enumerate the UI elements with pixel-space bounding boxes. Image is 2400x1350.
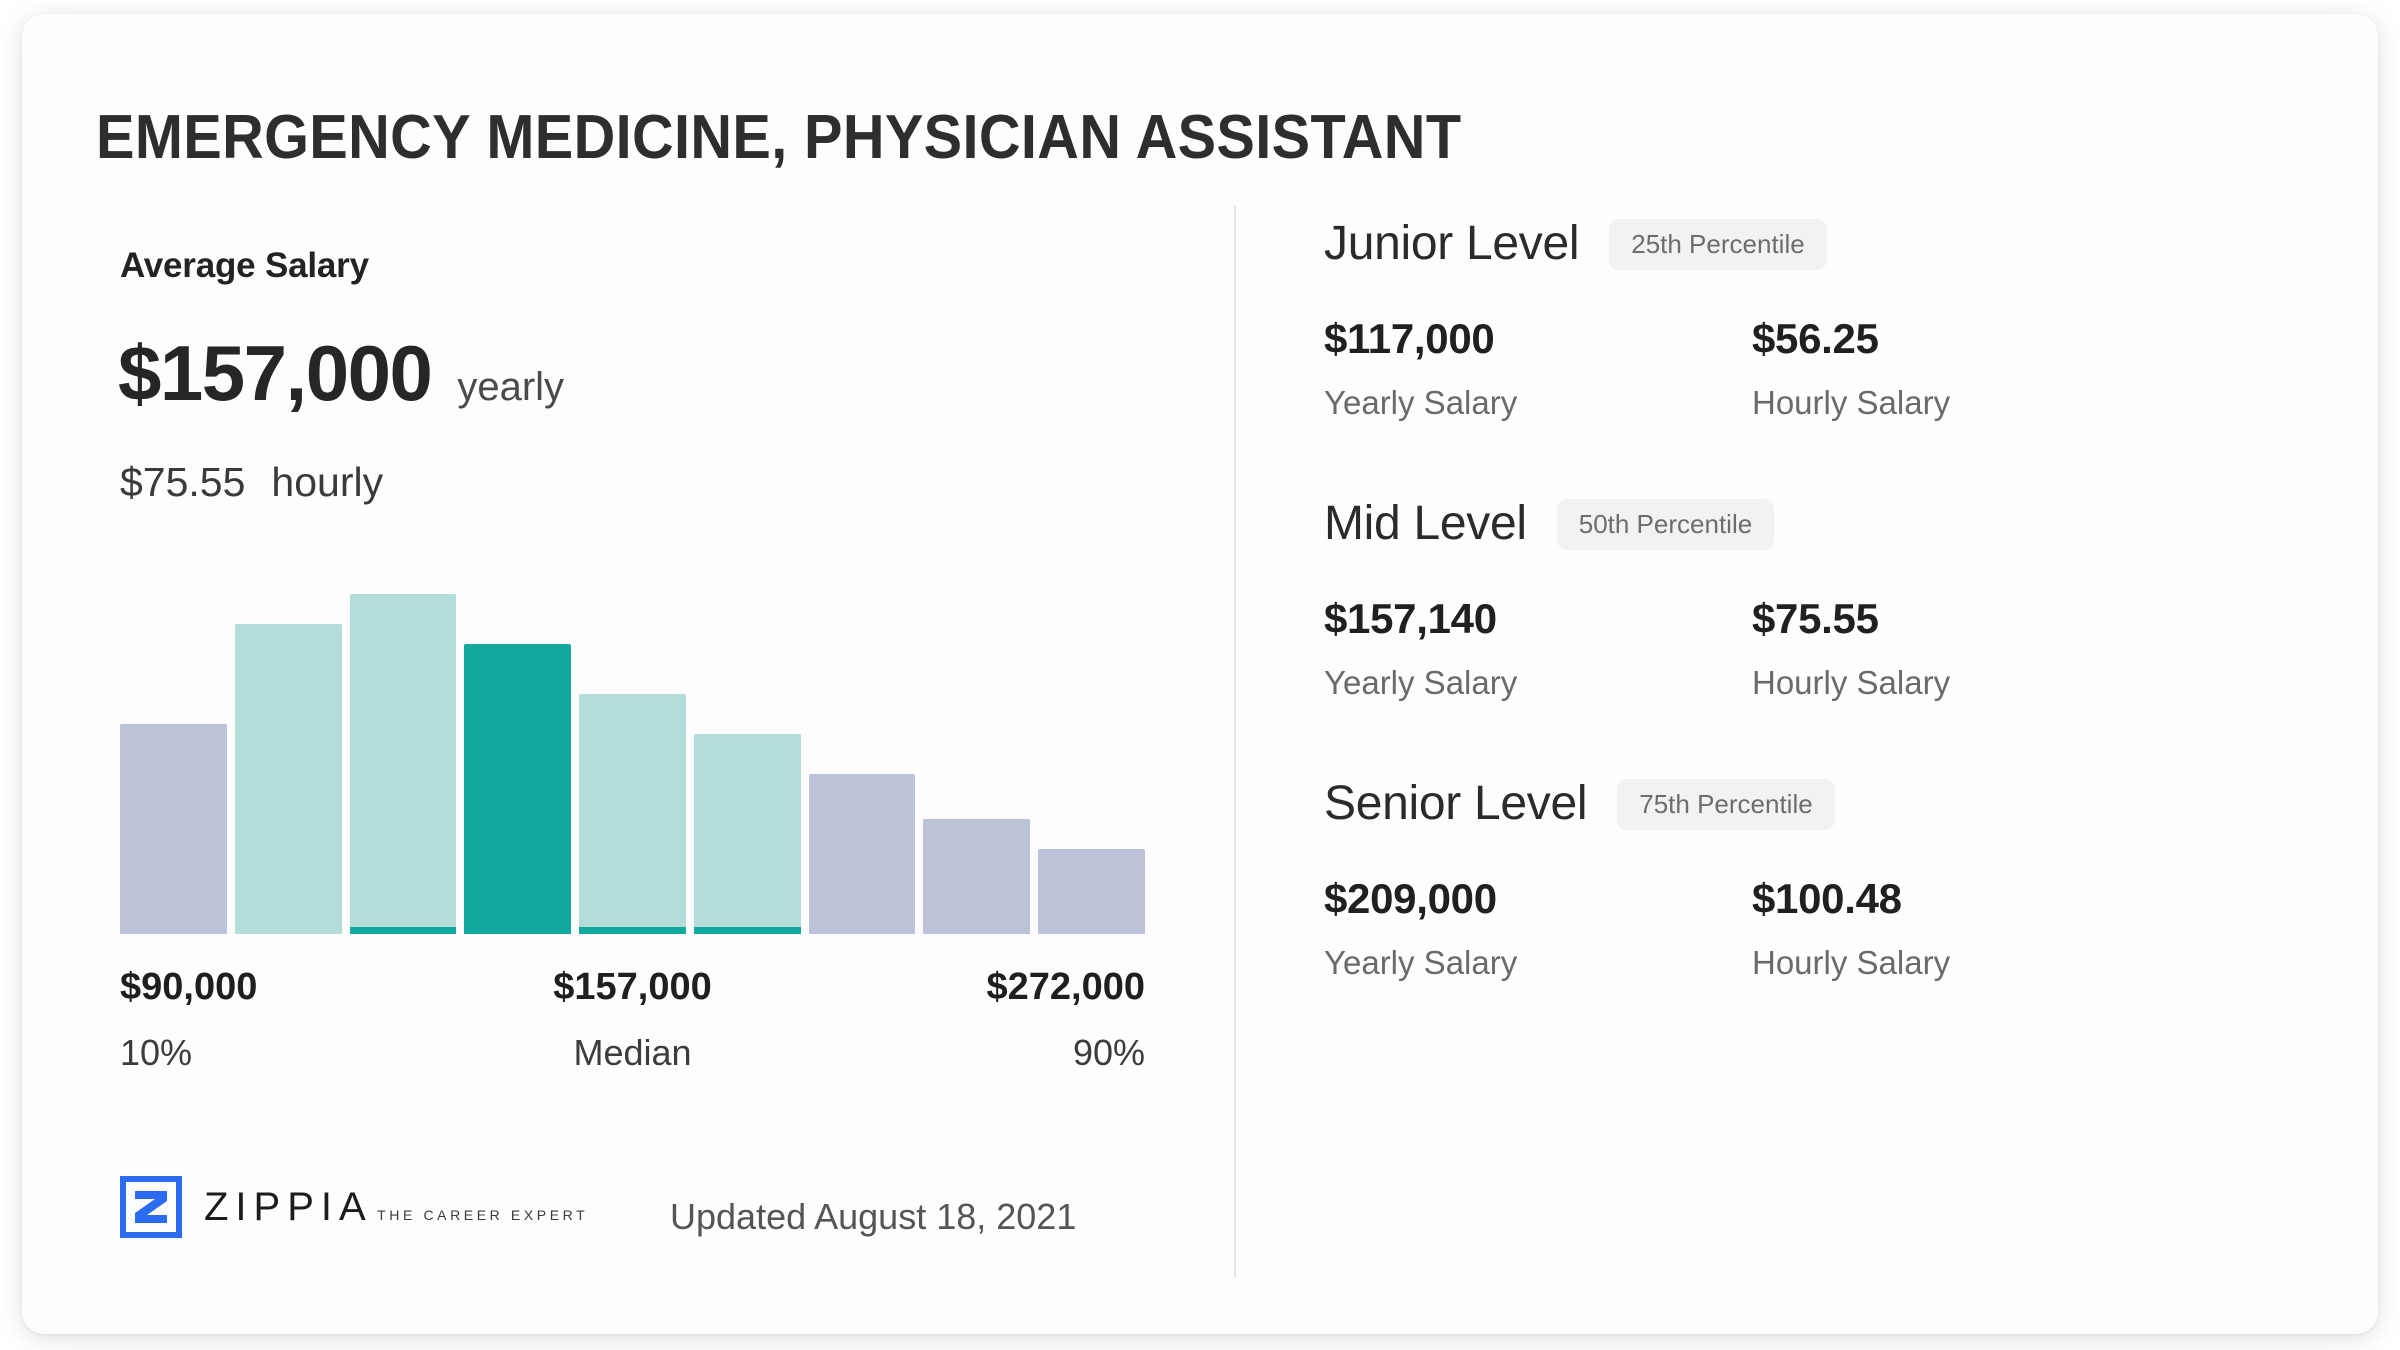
zippia-tagline: THE CAREER EXPERT: [377, 1207, 588, 1223]
average-salary-hourly-row: $75.55 hourly: [120, 462, 383, 503]
chart-axis-amounts: $90,000 $157,000 $272,000: [120, 966, 1145, 1010]
chart-bar: [350, 594, 457, 934]
axis-high-amount: $272,000: [987, 966, 1146, 1009]
experience-level-block: Junior Level25th Percentile$117,000Yearl…: [1324, 214, 2364, 436]
yearly-salary-label: Yearly Salary: [1324, 946, 1517, 979]
zippia-logo[interactable]: ZIPPIA THE CAREER EXPERT: [120, 1176, 588, 1238]
hourly-salary-stat: $100.48Hourly Salary: [1752, 878, 1950, 979]
chart-bar: [464, 644, 571, 934]
yearly-salary-value: $157,140: [1324, 598, 1517, 640]
level-stats: $117,000Yearly Salary$56.25Hourly Salary: [1324, 318, 2364, 436]
yearly-salary-value: $209,000: [1324, 878, 1517, 920]
yearly-salary-label: Yearly Salary: [1324, 386, 1517, 419]
level-header: Senior Level75th Percentile: [1324, 774, 2364, 834]
level-stats: $157,140Yearly Salary$75.55Hourly Salary: [1324, 598, 2364, 716]
average-hourly-amount: $75.55: [120, 462, 245, 503]
axis-mid-amount: $157,000: [553, 966, 712, 1009]
experience-level-block: Senior Level75th Percentile$209,000Yearl…: [1324, 774, 2364, 996]
chart-bar: [1038, 849, 1145, 934]
hourly-salary-stat: $56.25Hourly Salary: [1752, 318, 1950, 419]
percentile-badge: 75th Percentile: [1617, 779, 1834, 830]
average-salary-unit: yearly: [457, 367, 564, 407]
chart-bar: [923, 819, 1030, 934]
experience-level-block: Mid Level50th Percentile$157,140Yearly S…: [1324, 494, 2364, 716]
level-name: Mid Level: [1324, 500, 1527, 548]
average-salary-amount: $157,000: [118, 334, 431, 412]
chart-bar: [235, 624, 342, 934]
zippia-wordmark: ZIPPIA THE CAREER EXPERT: [204, 1187, 588, 1227]
level-name: Senior Level: [1324, 780, 1587, 828]
level-stats: $209,000Yearly Salary$100.48Hourly Salar…: [1324, 878, 2364, 996]
level-header: Junior Level25th Percentile: [1324, 214, 2364, 274]
hourly-salary-value: $56.25: [1752, 318, 1950, 360]
chart-bar: [120, 724, 227, 934]
yearly-salary-value: $117,000: [1324, 318, 1517, 360]
axis-mid-sublabel: Median: [573, 1032, 691, 1074]
zippia-z-icon: [120, 1176, 182, 1238]
chart-bar: [579, 694, 686, 934]
percentile-badge: 50th Percentile: [1557, 499, 1774, 550]
chart-bar: [694, 734, 801, 934]
hourly-salary-value: $100.48: [1752, 878, 1950, 920]
level-name: Junior Level: [1324, 220, 1579, 268]
hourly-salary-label: Hourly Salary: [1752, 946, 1950, 979]
yearly-salary-stat: $209,000Yearly Salary: [1324, 878, 1517, 979]
yearly-salary-stat: $117,000Yearly Salary: [1324, 318, 1517, 419]
axis-low-amount: $90,000: [120, 966, 257, 1009]
hourly-salary-stat: $75.55Hourly Salary: [1752, 598, 1950, 699]
level-header: Mid Level50th Percentile: [1324, 494, 2364, 554]
percentile-badge: 25th Percentile: [1609, 219, 1826, 270]
salary-infographic-card: EMERGENCY MEDICINE, PHYSICIAN ASSISTANT …: [22, 14, 2378, 1334]
hourly-salary-label: Hourly Salary: [1752, 386, 1950, 419]
average-salary-label: Average Salary: [120, 246, 369, 286]
average-salary-panel: Average Salary $157,000 yearly $75.55 ho…: [22, 14, 1234, 1334]
chart-bars: [120, 574, 1145, 934]
chart-bar: [809, 774, 916, 934]
hourly-salary-label: Hourly Salary: [1752, 666, 1950, 699]
yearly-salary-label: Yearly Salary: [1324, 666, 1517, 699]
chart-axis-sublabels: 10% Median 90%: [120, 1032, 1145, 1076]
axis-high-sublabel: 90%: [1073, 1032, 1145, 1074]
yearly-salary-stat: $157,140Yearly Salary: [1324, 598, 1517, 699]
average-hourly-unit: hourly: [271, 462, 383, 503]
average-salary-yearly-row: $157,000 yearly: [118, 334, 564, 412]
updated-date: Updated August 18, 2021: [670, 1196, 1076, 1238]
experience-levels-panel: Junior Level25th Percentile$117,000Yearl…: [1234, 14, 2378, 1334]
axis-low-sublabel: 10%: [120, 1032, 192, 1074]
zippia-name: ZIPPIA: [204, 1185, 373, 1229]
hourly-salary-value: $75.55: [1752, 598, 1950, 640]
salary-distribution-chart: [120, 574, 1145, 934]
